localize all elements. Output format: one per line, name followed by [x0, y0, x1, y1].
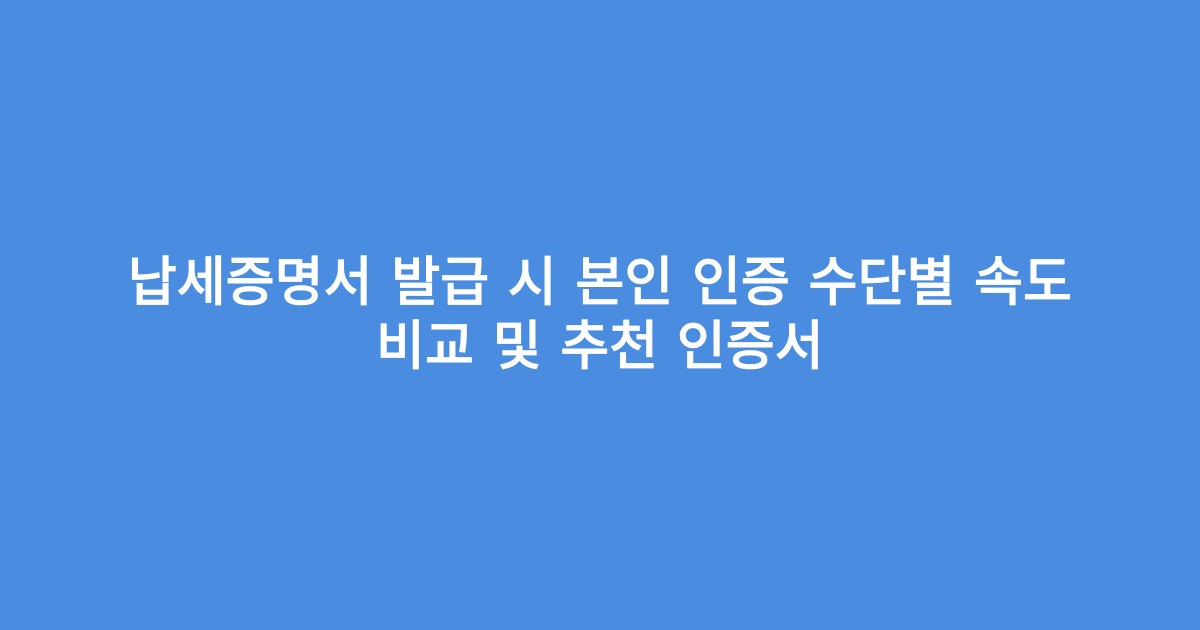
page-title: 납세증명서 발급 시 본인 인증 수단별 속도 비교 및 추천 인증서: [70, 251, 1130, 379]
title-block: 납세증명서 발급 시 본인 인증 수단별 속도 비교 및 추천 인증서: [50, 251, 1150, 379]
og-cover-card: 납세증명서 발급 시 본인 인증 수단별 속도 비교 및 추천 인증서: [0, 0, 1200, 630]
